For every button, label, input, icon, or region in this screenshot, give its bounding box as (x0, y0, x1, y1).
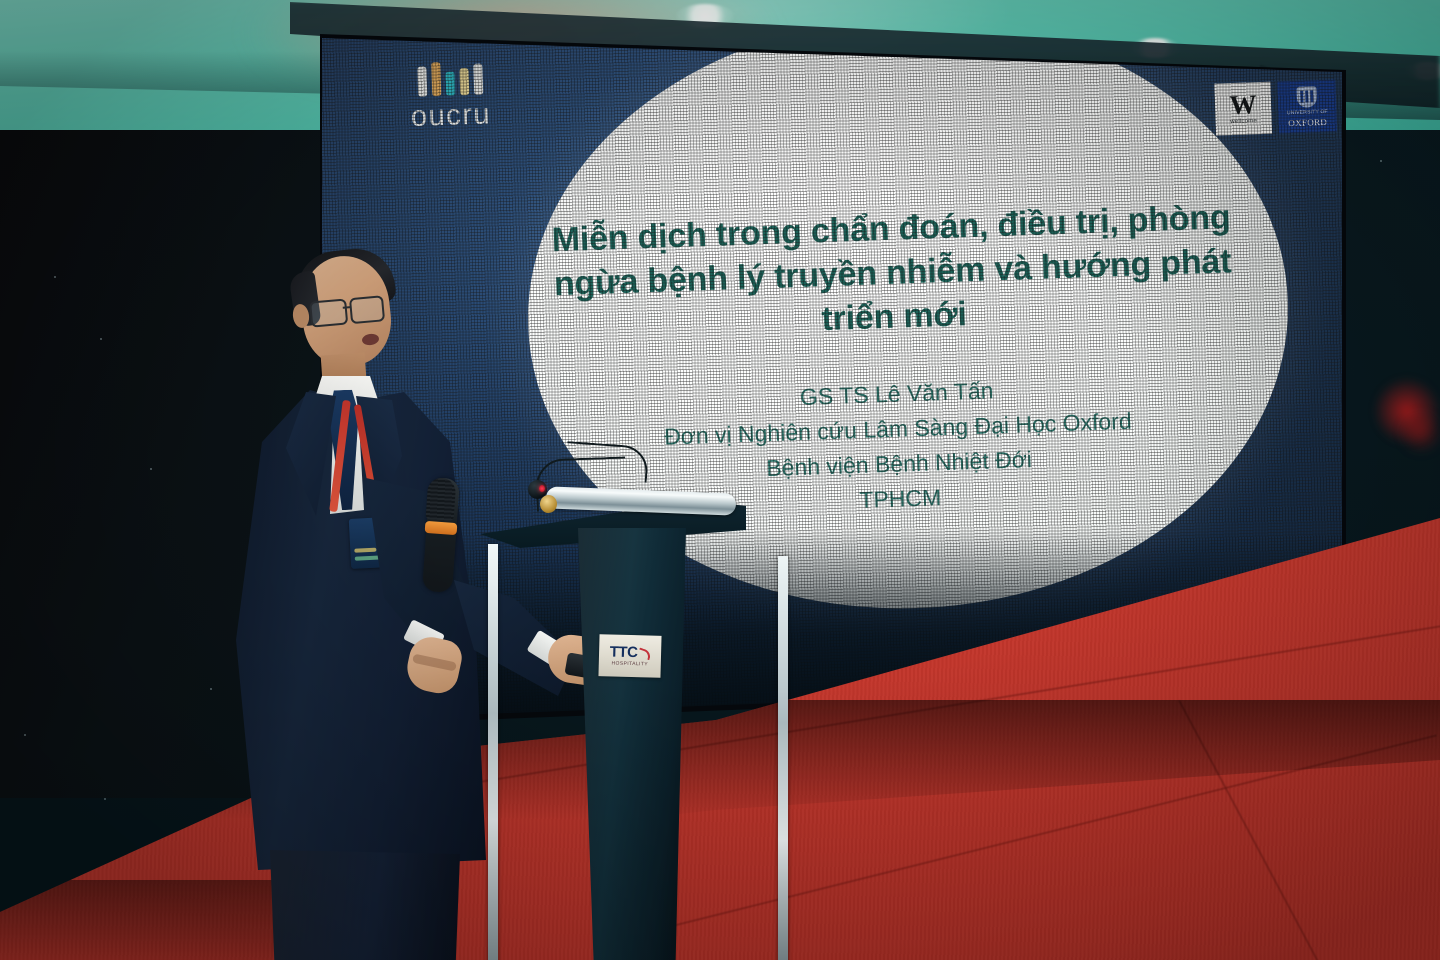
ttc-wordmark: TTC (610, 644, 638, 660)
podium: TTC HOSPITALITY (470, 470, 800, 960)
presentation-photo: oucru W wellcome UNIVERSITY OF OXFORD Mi… (0, 0, 1440, 960)
ttc-logo-row: TTC (610, 644, 651, 660)
podium-chrome-rail (546, 486, 737, 515)
microphone-led-indicator (539, 485, 545, 492)
microphone-band (425, 521, 458, 535)
ttc-hospitality-logo: TTC HOSPITALITY (598, 634, 661, 678)
red-wall-glow (1398, 412, 1440, 452)
ttc-subtext: HOSPITALITY (611, 661, 648, 668)
podium-leg-left (488, 544, 628, 960)
podium-leg-right (668, 556, 788, 960)
microphone-grille-icon (426, 477, 457, 521)
ttc-swoosh-icon (638, 647, 650, 658)
speaker-trousers-shading (260, 850, 470, 960)
